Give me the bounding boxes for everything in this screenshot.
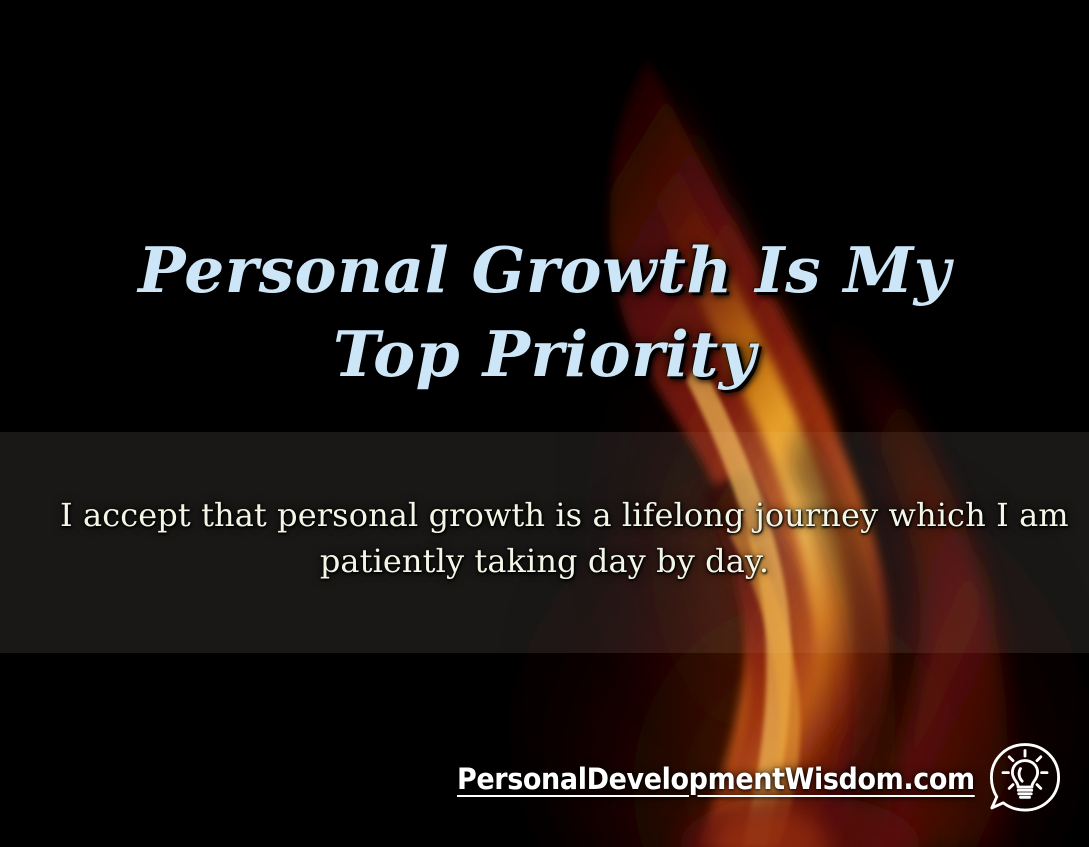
footer-branding: PersonalDevelopmentWisdom.com: [418, 737, 1067, 821]
poster-canvas: Personal Growth Is My Top Priority I acc…: [0, 0, 1089, 847]
speech-bubble-lightbulb-logo[interactable]: [983, 737, 1067, 821]
subtitle-line-2: patiently taking day by day.: [60, 538, 1029, 584]
title-line-1: Personal Growth Is My: [0, 228, 1089, 312]
flame-ribbon-artwork: [0, 0, 1089, 847]
affirmation-text: I accept that personal growth is a lifel…: [60, 492, 1029, 584]
page-title: Personal Growth Is My Top Priority: [0, 228, 1089, 396]
site-url-link[interactable]: PersonalDevelopmentWisdom.com: [457, 765, 975, 794]
subtitle-line-1: I accept that personal growth is a lifel…: [60, 492, 1029, 538]
title-line-2: Top Priority: [0, 312, 1089, 396]
